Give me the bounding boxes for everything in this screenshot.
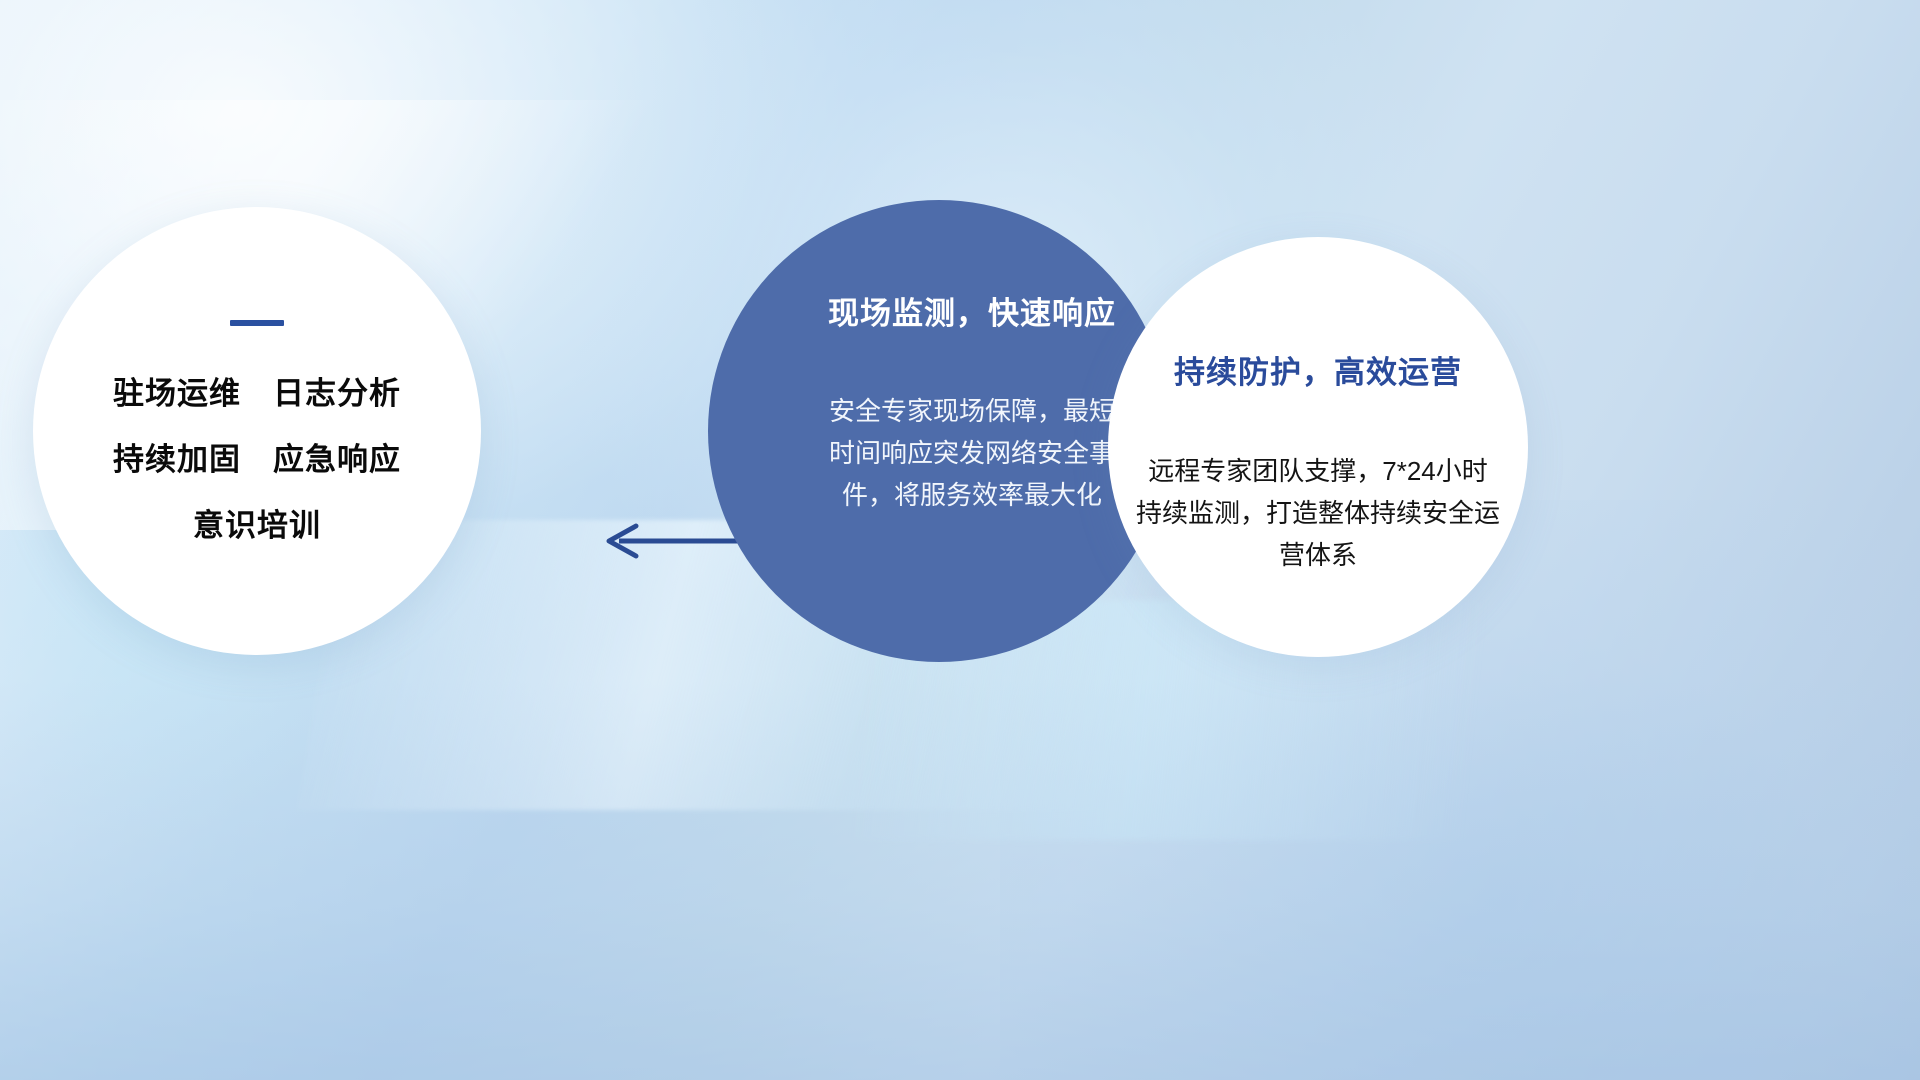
- background-bottom-wash: [0, 680, 1920, 1080]
- capabilities-circle[interactable]: 驻场运维 日志分析 持续加固 应急响应 意识培训: [33, 207, 481, 655]
- capabilities-content: 驻场运维 日志分析 持续加固 应急响应 意识培训: [33, 207, 481, 655]
- onsite-monitoring-content: 现场监测，快速响应 安全专家现场保障，最短时间响应突发网络安全事件，将服务效率最…: [708, 200, 1170, 662]
- onsite-monitoring-circle[interactable]: 现场监测，快速响应 安全专家现场保障，最短时间响应突发网络安全事件，将服务效率最…: [708, 200, 1170, 662]
- capability-line-3: 意识培训: [193, 506, 321, 546]
- continuous-protection-body: 远程专家团队支撑，7*24小时持续监测，打造整体持续安全运营体系: [1136, 450, 1500, 576]
- continuous-protection-content: 持续防护，高效运营 远程专家团队支撑，7*24小时持续监测，打造整体持续安全运营…: [1108, 237, 1528, 657]
- onsite-monitoring-body: 安全专家现场保障，最短时间响应突发网络安全事件，将服务效率最大化: [822, 390, 1122, 516]
- capability-line-2: 持续加固 应急响应: [113, 440, 401, 480]
- slide-canvas: 驻场运维 日志分析 持续加固 应急响应 意识培训 现场监测，快速响应 安全专家现…: [0, 0, 1920, 1080]
- capability-line-1: 驻场运维 日志分析: [113, 374, 401, 414]
- onsite-monitoring-title: 现场监测，快速响应: [828, 288, 1116, 333]
- continuous-protection-circle[interactable]: 持续防护，高效运营 远程专家团队支撑，7*24小时持续监测，打造整体持续安全运营…: [1108, 237, 1528, 657]
- continuous-protection-title: 持续防护，高效运营: [1174, 347, 1462, 392]
- divider-dash: [230, 320, 284, 326]
